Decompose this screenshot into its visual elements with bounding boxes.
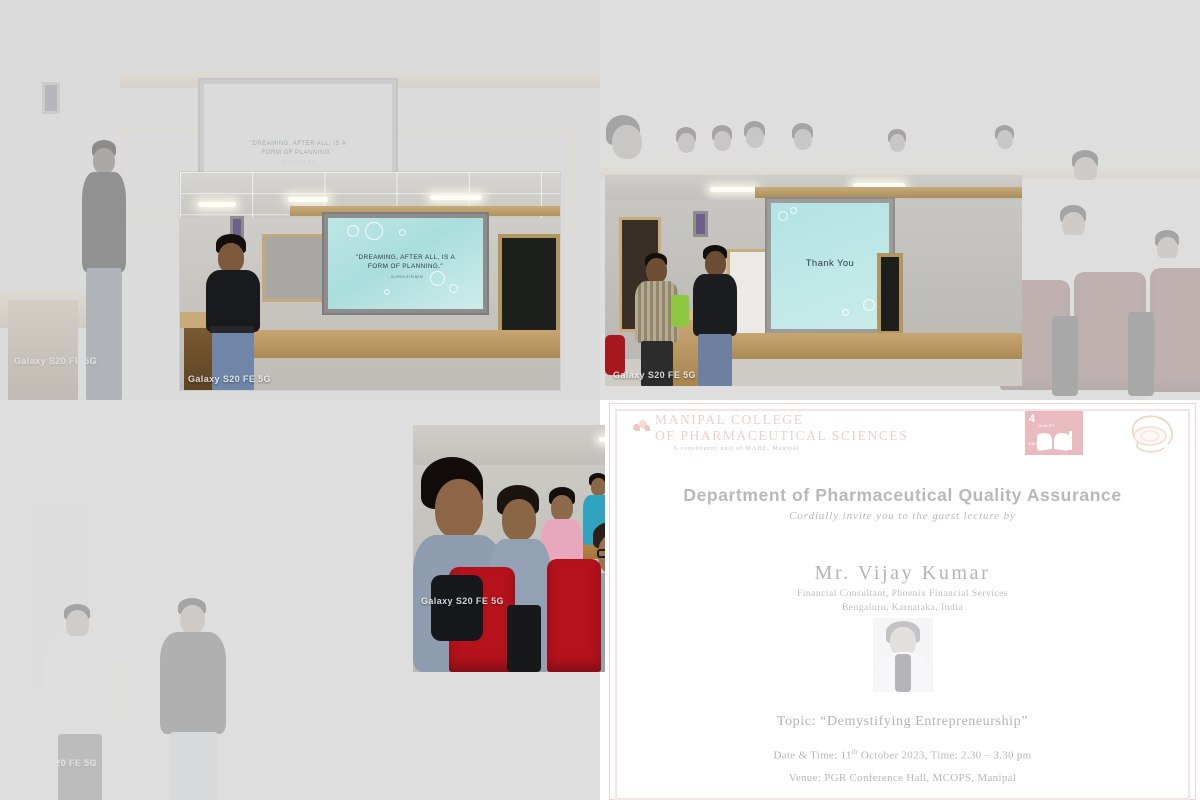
institution-name: MANIPAL COLLEGE OF PHARMACEUTICAL SCIENC…	[655, 412, 908, 444]
institution-line1: MANIPAL COLLEGE	[655, 412, 804, 427]
podium	[8, 300, 78, 400]
ceiling-light	[710, 187, 756, 192]
ceiling-light	[430, 195, 482, 200]
slide-quote-line2: FORM OF PLANNING."	[215, 149, 380, 157]
photo-speaker-presenting-closeup: "DREAMING, AFTER ALL, IS A FORM OF PLANN…	[180, 172, 560, 390]
poster-speaker-name: Mr. Vijay Kumar	[605, 562, 1200, 585]
ceiling	[600, 0, 1200, 56]
poster-date-prefix: Date & Time: 11	[773, 750, 851, 762]
host-figure	[46, 604, 114, 800]
projector-screen: "DREAMING, AFTER ALL, IS A FORM OF PLANN…	[322, 212, 489, 315]
slide-thankyou: Thank You	[778, 258, 882, 271]
sdg-4-badge: 4 QUALITY EDUCATION	[1025, 411, 1083, 455]
poster-invite-line: Cordially invite you to the guest lectur…	[605, 510, 1200, 522]
poster-speaker-location: Bengaluru, Karnataka, India	[605, 603, 1200, 613]
memento-object	[671, 295, 689, 327]
blackboard	[877, 253, 903, 335]
projector-screen-surface: Thank You	[771, 203, 889, 329]
wall-frame	[42, 82, 60, 114]
camera-watermark: Galaxy S20 FE 5G	[188, 374, 271, 384]
institution-tagline: A constituent unit of MAHE, Manipal	[673, 446, 799, 452]
lecture-hall-scene: Thank You	[605, 175, 1022, 386]
projector-screen: Thank You	[765, 197, 895, 335]
backpack	[431, 575, 483, 641]
sdg-number: 4	[1029, 414, 1035, 425]
ceiling-light	[22, 58, 102, 63]
institution-logo-block: MANIPAL COLLEGE OF PHARMACEUTICAL SCIENC…	[633, 412, 908, 444]
camera-watermark: Galaxy S20 FE 5G	[613, 370, 696, 380]
whiteboard	[248, 505, 318, 665]
slide-quote: "DREAMING, AFTER ALL, IS A FORM OF PLANN…	[215, 140, 380, 164]
stage-ledge	[717, 333, 1022, 359]
speaker-portrait	[873, 618, 933, 692]
slide-quote-line2: FORM OF PLANNING."	[337, 263, 473, 272]
poster-speaker-role: Financial Consultant, Phoenix Financial …	[605, 589, 1200, 599]
slide-quote: "DREAMING, AFTER ALL, IS A FORM OF PLANN…	[337, 254, 473, 279]
wall-frame	[693, 211, 708, 237]
event-invitation-poster: MANIPAL COLLEGE OF PHARMACEUTICAL SCIENC…	[605, 400, 1200, 800]
slide-quote-line1: "DREAMING, AFTER ALL, IS A	[337, 254, 473, 263]
chair	[605, 335, 625, 375]
slide-quote-line1: "DREAMING, AFTER ALL, IS A	[215, 140, 380, 148]
camera-watermark: Galaxy S20 FE 5G	[421, 596, 504, 606]
ceiling-light	[150, 418, 222, 423]
speaker-figure	[204, 234, 262, 390]
sdg-label-line1: QUALITY	[1038, 424, 1055, 428]
mahe-swirl-logo-icon	[1118, 410, 1180, 458]
manipal-logo-icon	[633, 420, 650, 435]
projector-screen-surface: "DREAMING, AFTER ALL, IS A FORM OF PLANN…	[328, 218, 483, 309]
poster-date-rest: October 2023, Time: 2.30 – 3.30 pm	[858, 750, 1032, 762]
slide-quote-attribution: - GLORIA STEINEM	[337, 275, 473, 279]
slide-quote-attribution: - GLORIA STEINEM	[215, 160, 380, 165]
photo-memento-handover: Thank You Galaxy S20 FE	[605, 175, 1022, 386]
poster-department-title: Department of Pharmaceutical Quality Ass…	[605, 485, 1200, 506]
institution-line2: OF PHARMACEUTICAL SCIENCES	[655, 428, 908, 443]
ceiling-light	[215, 55, 315, 60]
ceiling-light	[288, 197, 328, 202]
ceiling-light	[198, 202, 236, 207]
wall-frame	[172, 466, 194, 512]
ceiling-light	[345, 415, 405, 420]
camera-watermark: Galaxy S20 FE 5G	[14, 758, 97, 768]
blackboard	[498, 234, 560, 334]
open-book-icon	[1034, 431, 1072, 450]
camera-watermark: Galaxy S20 FE 5G	[14, 356, 97, 366]
stage-ledge	[240, 330, 560, 358]
poster-venue: Venue: PGR Conference Hall, MCOPS, Manip…	[605, 772, 1200, 784]
poster-date-time: Date & Time: 11th October 2023, Time: 2.…	[605, 748, 1200, 762]
poster-topic: Topic: “Demystifying Entrepreneurship”	[605, 714, 1200, 730]
lecture-hall-scene: "DREAMING, AFTER ALL, IS A FORM OF PLANN…	[180, 172, 560, 390]
speaker-figure	[160, 598, 230, 800]
seat-row	[1000, 268, 1200, 400]
speaker-figure	[693, 245, 737, 386]
memento-object	[108, 668, 134, 720]
collage-canvas: "DREAMING, AFTER ALL, IS A FORM OF PLANN…	[0, 0, 1200, 800]
